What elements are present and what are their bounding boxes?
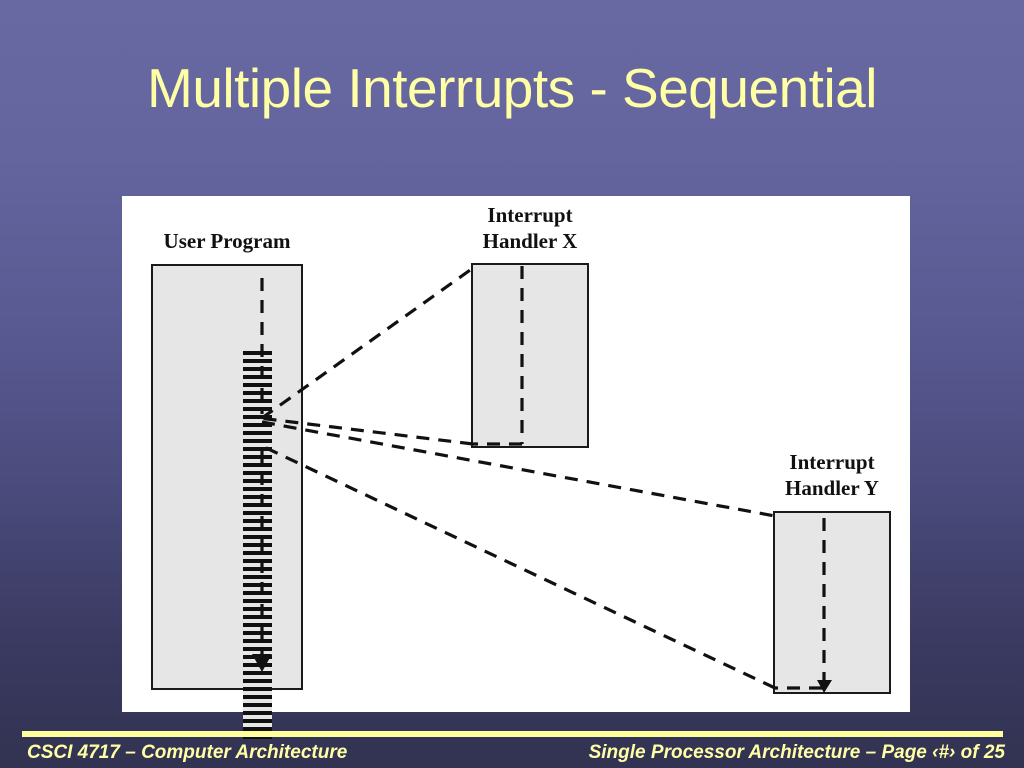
control-flow-lines	[122, 196, 910, 712]
jump-to-handler-y	[262, 422, 775, 516]
page-title: Multiple Interrupts - Sequential	[0, 55, 1024, 121]
footer-divider	[22, 731, 1003, 737]
return-from-handler-y	[262, 446, 775, 688]
footer-course-label: CSCI 4717 – Computer Architecture	[27, 742, 347, 764]
user-program-end-arrow	[252, 654, 272, 672]
jump-to-handler-x	[262, 268, 473, 418]
slide-canvas: Multiple Interrupts - Sequential User Pr…	[0, 0, 1024, 768]
footer-topic-label: Single Processor Architecture – Page ‹#›…	[589, 742, 1005, 764]
diagram-panel: User Program Interrupt Handler X Interru…	[122, 196, 910, 712]
return-from-handler-x	[259, 418, 473, 444]
